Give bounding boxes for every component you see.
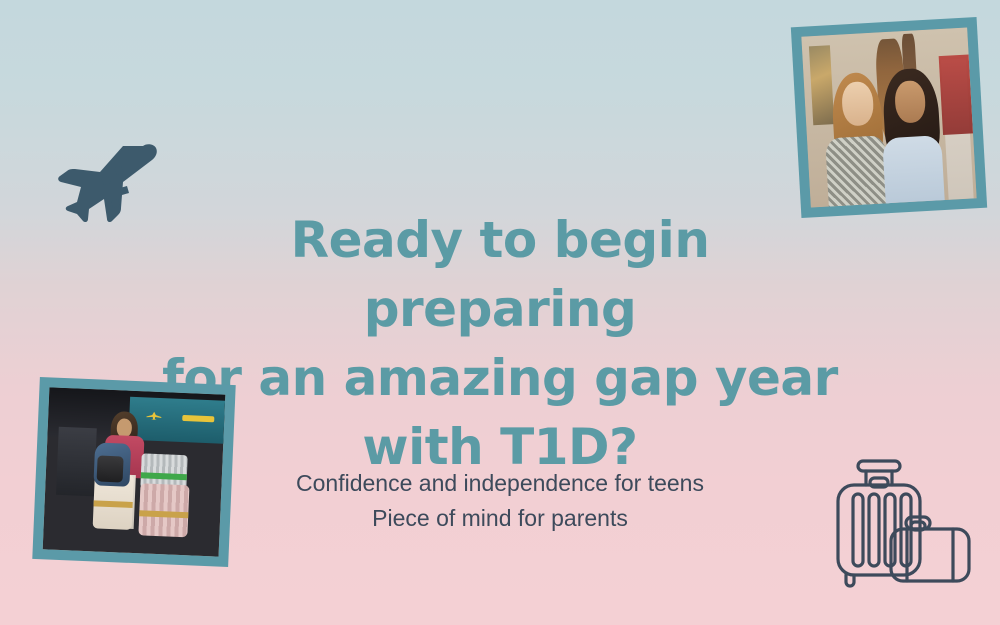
subtitle-line-1: Confidence and independence for teens (160, 466, 840, 501)
luggage-icon (828, 455, 978, 595)
photo-two-women (791, 17, 987, 218)
page-title: Ready to begin preparing for an amazing … (150, 206, 850, 482)
photo-traveller-airport-image (43, 387, 226, 556)
subtitle-line-2: Piece of mind for parents (160, 501, 840, 536)
subtitle: Confidence and independence for teens Pi… (160, 466, 840, 536)
photo-traveller-airport (32, 377, 235, 567)
airplane-icon (55, 142, 160, 244)
photo-two-women-image (801, 28, 976, 208)
poster-canvas: Ready to begin preparing for an amazing … (0, 0, 1000, 625)
